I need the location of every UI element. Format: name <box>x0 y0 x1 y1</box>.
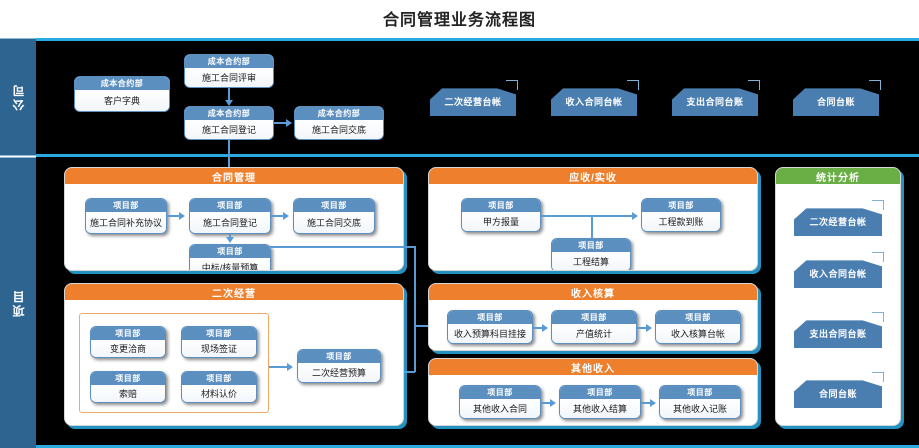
connector-settlement-to-payment <box>591 215 593 239</box>
ledger-income-contract-stats[interactable]: 收入合同台帐 <box>794 258 882 288</box>
node-dept-label: 项目部 <box>642 199 720 212</box>
node-other-income-contract[interactable]: 项目部 其他收入合同 <box>459 385 541 419</box>
group-receivable: 应收/实收 项目部 甲方报量 项目部 工程款到账 项目部 工程结算 <box>428 167 758 271</box>
node-output-stats[interactable]: 项目部 产值统计 <box>551 310 637 344</box>
arrowhead-output-to-ledger <box>646 324 652 332</box>
arrowhead-other-contract-to-settlement <box>550 399 556 407</box>
node-dept-label: 项目部 <box>91 327 165 340</box>
node-income-accounting-ledger[interactable]: 项目部 收入核算台帐 <box>655 310 741 344</box>
node-customer-dict[interactable]: 成本合约部 客户字典 <box>74 76 170 112</box>
swimlane-project-label: 项目 <box>10 289 27 317</box>
ledger-corner-icon <box>627 80 639 90</box>
node-dept-label: 成本合约部 <box>185 55 273 68</box>
node-project-settlement[interactable]: 项目部 工程结算 <box>551 238 631 271</box>
node-dept-label: 项目部 <box>462 199 540 212</box>
node-label: 施工合同补充协议 <box>86 212 166 233</box>
ledger-corner-icon <box>748 80 760 90</box>
group-body: 项目部 施工合同补充协议 项目部 施工合同登记 项目部 施工合同交底 项目部 中… <box>65 184 403 270</box>
ledger-label: 收入合同台帐 <box>565 95 622 108</box>
ledger-corner-icon <box>872 372 884 382</box>
connector-budget-to-bus <box>270 246 415 248</box>
group-title: 应收/实收 <box>429 168 757 184</box>
ledger-corner-icon <box>872 252 884 262</box>
ledger-expense-contract-company[interactable]: 支出合同台账 <box>672 86 758 116</box>
node-dept-label: 项目部 <box>560 386 640 399</box>
ledger-label: 收入合同台帐 <box>809 267 866 280</box>
arrowhead-supplement-to-register <box>179 212 185 220</box>
node-claim[interactable]: 项目部 索赔 <box>90 371 166 403</box>
node-supplement-agreement[interactable]: 项目部 施工合同补充协议 <box>85 198 167 234</box>
arrowhead-register-to-handover-project <box>283 212 289 220</box>
group-body: 项目部 甲方报量 项目部 工程款到账 项目部 工程结算 <box>429 184 757 270</box>
node-dept-label: 项目部 <box>448 311 532 324</box>
page-title-bar: 合同管理业务流程图 <box>0 0 919 36</box>
ledger-corner-icon <box>872 200 884 210</box>
node-label: 施工合同交底 <box>295 120 383 139</box>
node-label: 收入预算科目挂接 <box>448 324 532 343</box>
group-title: 统计分析 <box>776 168 900 184</box>
node-dept-label: 成本合约部 <box>185 107 273 120</box>
node-project-register[interactable]: 项目部 施工合同登记 <box>189 198 271 234</box>
ledger-expense-contract-stats[interactable]: 支出合同台账 <box>794 318 882 348</box>
node-dept-label: 项目部 <box>190 199 270 212</box>
ledger-contract-company[interactable]: 合同台账 <box>793 86 879 116</box>
node-label: 工程款到账 <box>642 212 720 231</box>
node-label: 中标/核量预算 <box>190 258 270 271</box>
group-title: 其他收入 <box>429 359 757 375</box>
node-dept-label: 成本合约部 <box>295 107 383 120</box>
arrowhead-register-to-budget <box>226 237 234 243</box>
ledger-contract-stats[interactable]: 合同台账 <box>794 378 882 408</box>
node-dept-label: 项目部 <box>460 386 540 399</box>
ledger-label: 支出合同台账 <box>686 95 743 108</box>
node-change-negotiation[interactable]: 项目部 变更洽商 <box>90 326 166 358</box>
node-bid-budget[interactable]: 项目部 中标/核量预算 <box>189 244 271 271</box>
arrowhead-other-settlement-to-record <box>650 399 656 407</box>
connector-secondary-budget-bus-vertical <box>414 325 416 372</box>
separator-mid <box>36 154 919 157</box>
group-contract-management: 合同管理 项目部 施工合同补充协议 项目部 施工合同登记 项目部 施工合同交底 … <box>64 167 404 271</box>
node-label: 其他收入结算 <box>560 399 640 418</box>
page-title: 合同管理业务流程图 <box>383 6 536 30</box>
connector-subgroup-to-secondary-budget <box>269 366 288 368</box>
arrowhead-quantity-to-payment <box>632 212 638 220</box>
group-income-accounting: 收入核算 项目部 收入预算科目挂接 项目部 产值统计 项目部 收入核算台帐 <box>428 283 758 351</box>
node-material-pricing[interactable]: 项目部 材料认价 <box>181 371 257 403</box>
node-dept-label: 项目部 <box>182 327 256 340</box>
node-dept-label: 项目部 <box>656 311 740 324</box>
node-label: 施工合同交底 <box>294 212 374 233</box>
node-label: 其他收入记账 <box>660 399 740 418</box>
node-label: 索赔 <box>91 385 165 402</box>
node-project-handover[interactable]: 项目部 施工合同交底 <box>293 198 375 234</box>
node-dept-label: 项目部 <box>660 386 740 399</box>
group-statistics-analysis: 统计分析 二次经营台帐 收入合同台帐 支出合同台账 合同台账 <box>775 167 901 426</box>
node-contract-handover[interactable]: 成本合约部 施工合同交底 <box>294 106 384 140</box>
node-label: 客户字典 <box>75 90 169 111</box>
node-label: 工程结算 <box>552 252 630 271</box>
separator-top <box>36 38 919 41</box>
connector-bus-vertical <box>414 246 416 326</box>
node-label: 变更洽商 <box>91 340 165 357</box>
node-label: 甲方报量 <box>462 212 540 231</box>
node-label: 现场签证 <box>182 340 256 357</box>
ledger-corner-icon <box>506 80 518 90</box>
node-owner-quantity[interactable]: 项目部 甲方报量 <box>461 198 541 232</box>
node-income-budget-link[interactable]: 项目部 收入预算科目挂接 <box>447 310 533 344</box>
ledger-label: 二次经营台帐 <box>444 95 501 108</box>
ledger-label: 支出合同台账 <box>809 327 866 340</box>
node-dept-label: 项目部 <box>182 372 256 385</box>
node-dept-label: 项目部 <box>294 199 374 212</box>
node-dept-label: 项目部 <box>298 350 380 363</box>
flowchart-page: 合同管理业务流程图 公司 项目 成本合约部 客户字典 成本合约部 施工合同评审 … <box>0 0 919 448</box>
node-label: 其他收入合同 <box>460 399 540 418</box>
ledger-secondary-ops-stats[interactable]: 二次经营台帐 <box>794 206 882 236</box>
group-title: 二次经营 <box>65 284 403 300</box>
node-label: 收入核算台帐 <box>656 324 740 343</box>
left-gutter <box>0 0 36 38</box>
node-site-visa[interactable]: 项目部 现场签证 <box>181 326 257 358</box>
node-label: 二次经营预算 <box>298 363 380 382</box>
arrowhead-review-to-register <box>225 100 233 106</box>
ledger-label: 合同台账 <box>819 387 857 400</box>
node-contract-review[interactable]: 成本合约部 施工合同评审 <box>184 54 274 88</box>
node-label: 施工合同评审 <box>185 68 273 87</box>
ledger-label: 合同台账 <box>817 95 855 108</box>
ledger-corner-icon <box>869 80 881 90</box>
node-dept-label: 成本合约部 <box>75 77 169 90</box>
node-label: 施工合同登记 <box>185 120 273 139</box>
group-title: 合同管理 <box>65 168 403 184</box>
arrowhead-register-to-handover <box>286 119 292 127</box>
swimlane-project: 项目 <box>0 157 36 448</box>
node-secondary-budget[interactable]: 项目部 二次经营预算 <box>297 349 381 383</box>
node-dept-label: 项目部 <box>552 239 630 252</box>
node-other-income-record[interactable]: 项目部 其他收入记账 <box>659 385 741 419</box>
connector-quantity-to-payment <box>541 215 633 217</box>
node-label: 材料认价 <box>182 385 256 402</box>
node-label: 产值统计 <box>552 324 636 343</box>
ledger-income-contract-company[interactable]: 收入合同台帐 <box>551 86 637 116</box>
node-dept-label: 项目部 <box>190 245 270 258</box>
node-dept-label: 项目部 <box>552 311 636 324</box>
ledger-label: 二次经营台帐 <box>809 215 866 228</box>
arrowhead-budget-link-to-output <box>542 324 548 332</box>
group-body: 项目部 变更洽商 项目部 现场签证 项目部 索赔 项目部 材料认价 项目部 二次… <box>65 300 403 425</box>
swimlane-company: 公司 <box>0 38 36 156</box>
node-payment-received[interactable]: 项目部 工程款到账 <box>641 198 721 232</box>
arrowhead-subgroup-to-secondary-budget <box>287 363 293 371</box>
node-other-income-settlement[interactable]: 项目部 其他收入结算 <box>559 385 641 419</box>
group-other-income: 其他收入 项目部 其他收入合同 项目部 其他收入结算 项目部 其他收入记账 <box>428 358 758 426</box>
node-contract-register[interactable]: 成本合约部 施工合同登记 <box>184 106 274 140</box>
group-body: 项目部 其他收入合同 项目部 其他收入结算 项目部 其他收入记账 <box>429 375 757 425</box>
ledger-corner-icon <box>872 312 884 322</box>
swimlane-company-label: 公司 <box>10 83 27 111</box>
node-dept-label: 项目部 <box>91 372 165 385</box>
group-title: 收入核算 <box>429 284 757 300</box>
group-body: 项目部 收入预算科目挂接 项目部 产值统计 项目部 收入核算台帐 <box>429 300 757 350</box>
ledger-secondary-ops-company[interactable]: 二次经营台帐 <box>430 86 516 116</box>
group-body: 二次经营台帐 收入合同台帐 支出合同台账 合同台账 <box>776 184 900 425</box>
group-secondary-operations: 二次经营 项目部 变更洽商 项目部 现场签证 项目部 索赔 项目部 材料认价 项… <box>64 283 404 426</box>
node-dept-label: 项目部 <box>86 199 166 212</box>
node-label: 施工合同登记 <box>190 212 270 233</box>
